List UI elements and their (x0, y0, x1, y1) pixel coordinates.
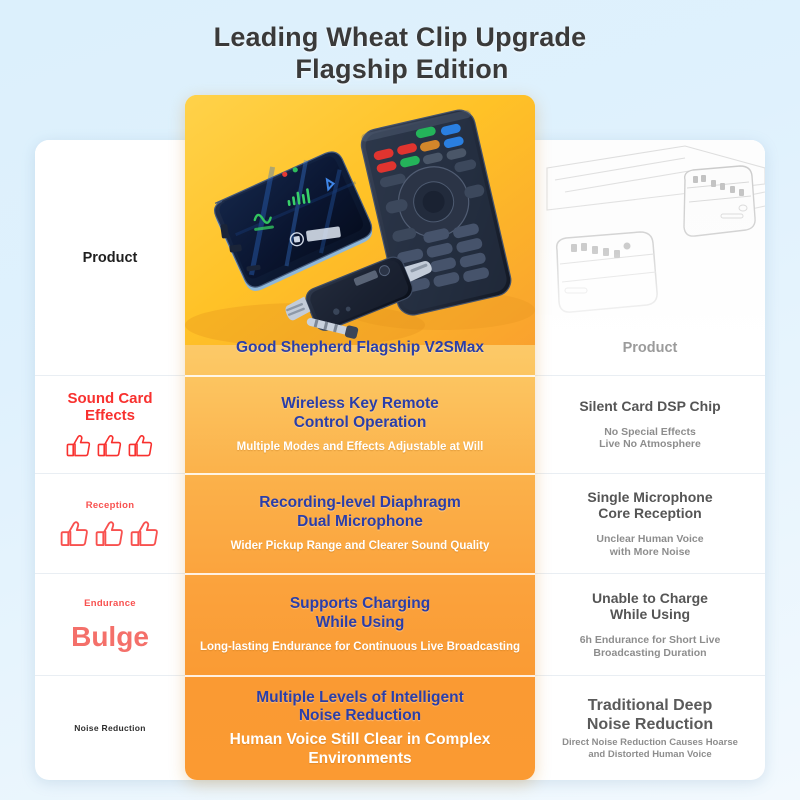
previous-noise-title-line-1: Traditional Deep (588, 697, 712, 714)
previous-reception-sub: Unclear Human Voice with More Noise (596, 533, 703, 558)
row-sound-card-label: Sound Card Effects (35, 375, 185, 473)
previous-noise-sub-line-2: and Distorted Human Voice (588, 749, 711, 760)
previous-reception-title-line-2: Core Reception (598, 505, 701, 521)
featured-noise-sub: Human Voice Still Clear in Complex Envir… (185, 731, 535, 768)
featured-reception-sub-line-2: Clearer Sound Quality (369, 540, 490, 552)
featured-reception-title: Recording-level Diaphragm Dual Microphon… (259, 494, 461, 531)
previous-sound-card-sub-line-2: Live No Atmosphere (599, 438, 701, 450)
label-reception: Reception (86, 500, 135, 511)
featured-reception-title-line-1: Recording-level Diaphragm (259, 494, 461, 512)
featured-sound-card-sub-line-1: Multiple Modes and Effects (237, 441, 385, 453)
row-noise-reduction-previous: Traditional Deep Noise Reduction Direct … (535, 675, 765, 780)
previous-noise-title-line-2: Noise Reduction (587, 716, 713, 733)
row-product-label: Product (35, 140, 185, 375)
label-endurance: Endurance (84, 598, 136, 609)
previous-reception-title-line-1: Single Microphone (587, 489, 712, 505)
row-product-previous: Previous Generation Product (535, 140, 765, 375)
featured-endurance-title: Supports Charging While Using (290, 595, 430, 632)
featured-endurance-sub: Long-lasting Endurance for Continuous Li… (200, 641, 520, 655)
previous-reception-title: Single Microphone Core Reception (587, 489, 712, 523)
previous-noise-title: Traditional Deep Noise Reduction (587, 696, 713, 734)
featured-product-hero: Good Shepherd Flagship V2SMax (185, 95, 535, 375)
featured-reception-title-line-2: Dual Microphone (259, 513, 461, 531)
thumbs-up-icon (60, 520, 90, 548)
label-sound-card-effects: Sound Card Effects (68, 391, 153, 425)
previous-sound-card-title-line-1: Silent Card DSP Chip (579, 398, 720, 414)
previous-endurance-title-line-2: While Using (610, 606, 690, 622)
featured-reception-sub: Wider Pickup Range and Clearer Sound Qua… (231, 540, 490, 554)
page-title-line-1: Leading Wheat Clip Upgrade (0, 22, 800, 54)
previous-reception-sub-line-2: with More Noise (610, 546, 691, 558)
label-product: Product (83, 250, 138, 266)
feature-label-column: Product Sound Card Effects Reception (35, 140, 185, 375)
previous-generation-product-sketch (535, 140, 765, 340)
featured-endurance-sub-line-1: Long-lasting Endurance for Continuous (200, 641, 417, 653)
previous-endurance-sub-line-2: Broadcasting Duration (593, 647, 706, 659)
previous-sound-card-title: Silent Card DSP Chip (579, 398, 720, 415)
rating-thumbs-sound-card (66, 434, 154, 458)
row-reception-previous: Single Microphone Core Reception Unclear… (535, 473, 765, 573)
featured-sound-card-title-line-2: Control Operation (281, 414, 439, 432)
label-sound-card-line-1: Sound Card (68, 390, 153, 407)
row-endurance-previous: Unable to Charge While Using 6h Enduranc… (535, 573, 765, 675)
previous-noise-sub: Direct Noise Reduction Causes Hoarse and… (562, 737, 738, 760)
rating-thumbs-reception (60, 520, 160, 548)
thumbs-up-icon (97, 434, 123, 458)
previous-endurance-title: Unable to Charge While Using (592, 590, 708, 624)
featured-reception-sub-line-1: Wider Pickup Range and (231, 540, 366, 552)
previous-sound-card-sub-line-1: No Special Effects (604, 426, 696, 438)
featured-endurance-cell: Supports Charging While Using Long-lasti… (185, 573, 535, 675)
featured-noise-reduction-cell: Multiple Levels of Intelligent Noise Red… (185, 675, 535, 780)
featured-noise-sub-line-1: Human Voice Still Clear (230, 731, 403, 748)
featured-sound-card-sub-line-2: Adjustable at Will (388, 441, 484, 453)
thumbs-up-icon (66, 434, 92, 458)
featured-sound-card-title: Wireless Key Remote Control Operation (281, 395, 439, 432)
thumbs-up-icon (95, 520, 125, 548)
page-title: Leading Wheat Clip Upgrade Flagship Edit… (0, 22, 800, 86)
featured-endurance-sub-line-2: Live Broadcasting (420, 641, 520, 653)
featured-reception-cell: Recording-level Diaphragm Dual Microphon… (185, 473, 535, 573)
page-title-line-2: Flagship Edition (0, 54, 800, 86)
thumbs-up-icon (128, 434, 154, 458)
featured-sound-card-sub: Multiple Modes and Effects Adjustable at… (237, 441, 484, 455)
featured-noise-title-line-2: Noise Reduction (256, 707, 464, 725)
featured-sound-card-title-line-1: Wireless Key Remote (281, 395, 439, 413)
row-noise-reduction-label: Noise Reduction (35, 675, 185, 780)
featured-endurance-title-line-1: Supports Charging (290, 595, 430, 613)
previous-endurance-sub: 6h Endurance for Short Live Broadcasting… (580, 634, 721, 659)
previous-generation-title-line-2: Product (623, 340, 678, 356)
row-reception-label: Reception (35, 473, 185, 573)
previous-noise-sub-line-1: Direct Noise Reduction Causes Hoarse (562, 737, 738, 748)
previous-endurance-title-line-1: Unable to Charge (592, 590, 708, 606)
previous-sound-card-sub: No Special Effects Live No Atmosphere (599, 426, 701, 451)
featured-sound-card-cell: Wireless Key Remote Control Operation Mu… (185, 375, 535, 473)
thumbs-up-icon (130, 520, 160, 548)
featured-noise-title: Multiple Levels of Intelligent Noise Red… (256, 689, 464, 726)
featured-product-name: Good Shepherd Flagship V2SMax (185, 339, 535, 357)
label-bulge: Bulge (71, 623, 149, 651)
featured-product-column: Good Shepherd Flagship V2SMax Wireless K… (185, 95, 535, 780)
row-sound-card-previous: Silent Card DSP Chip No Special Effects … (535, 375, 765, 473)
previous-endurance-sub-line-1: 6h Endurance for Short Live (580, 634, 721, 646)
row-endurance-label: Endurance Bulge (35, 573, 185, 675)
label-noise-reduction: Noise Reduction (74, 723, 146, 733)
previous-generation-column: Previous Generation Product Silent Card … (535, 140, 765, 375)
featured-noise-title-line-1: Multiple Levels of Intelligent (256, 689, 464, 707)
previous-reception-sub-line-1: Unclear Human Voice (596, 533, 703, 545)
product-photo-soundcard-remote-mic (185, 95, 535, 345)
label-sound-card-line-2: Effects (85, 407, 135, 424)
featured-endurance-title-line-2: While Using (290, 614, 430, 632)
